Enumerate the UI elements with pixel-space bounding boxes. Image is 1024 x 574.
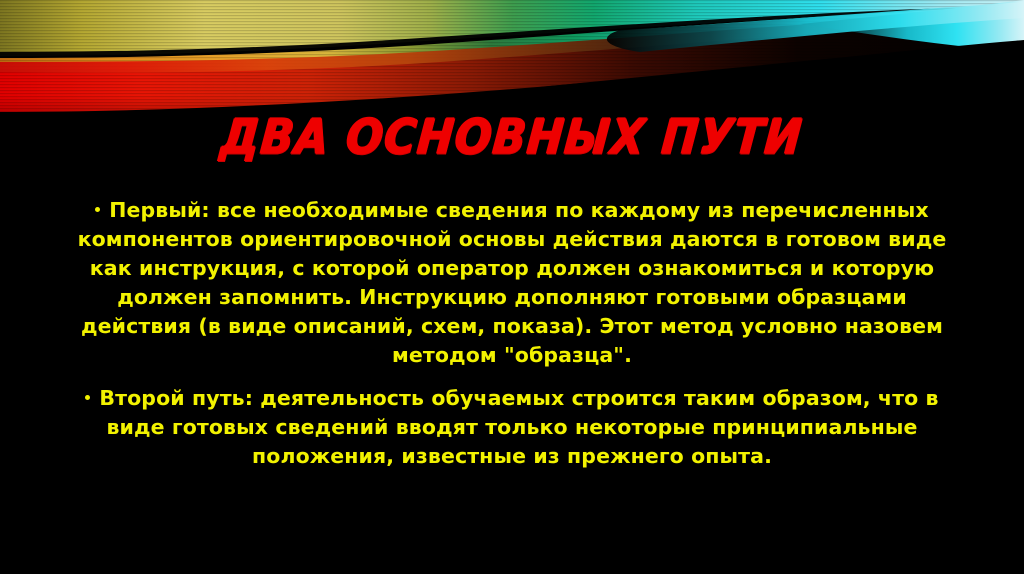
title-container: ДВА ОСНОВНЫХ ПУТИ bbox=[0, 88, 1024, 189]
wave-separator-1 bbox=[0, 6, 1024, 62]
bullet-text-1: Первый: все необходимые сведения по кажд… bbox=[78, 198, 947, 367]
bullet-dot-icon bbox=[95, 207, 100, 212]
page-title: ДВА ОСНОВНЫХ ПУТИ bbox=[219, 114, 805, 162]
wave-band-top bbox=[0, 0, 1024, 56]
bullet-dot-icon bbox=[85, 395, 90, 400]
bullet-text-2: Второй путь: деятельность обучаемых стро… bbox=[99, 386, 938, 468]
slide-body: Первый: все необходимые сведения по кажд… bbox=[72, 196, 952, 471]
wave-band-cyan bbox=[800, 0, 1024, 52]
bullet-item-1: Первый: все необходимые сведения по кажд… bbox=[72, 196, 952, 370]
wave-band-mid bbox=[0, 6, 1024, 84]
bullet-item-2: Второй путь: деятельность обучаемых стро… bbox=[72, 384, 952, 471]
slide-canvas: ДВА ОСНОВНЫХ ПУТИ Первый: все необходимы… bbox=[0, 0, 1024, 574]
